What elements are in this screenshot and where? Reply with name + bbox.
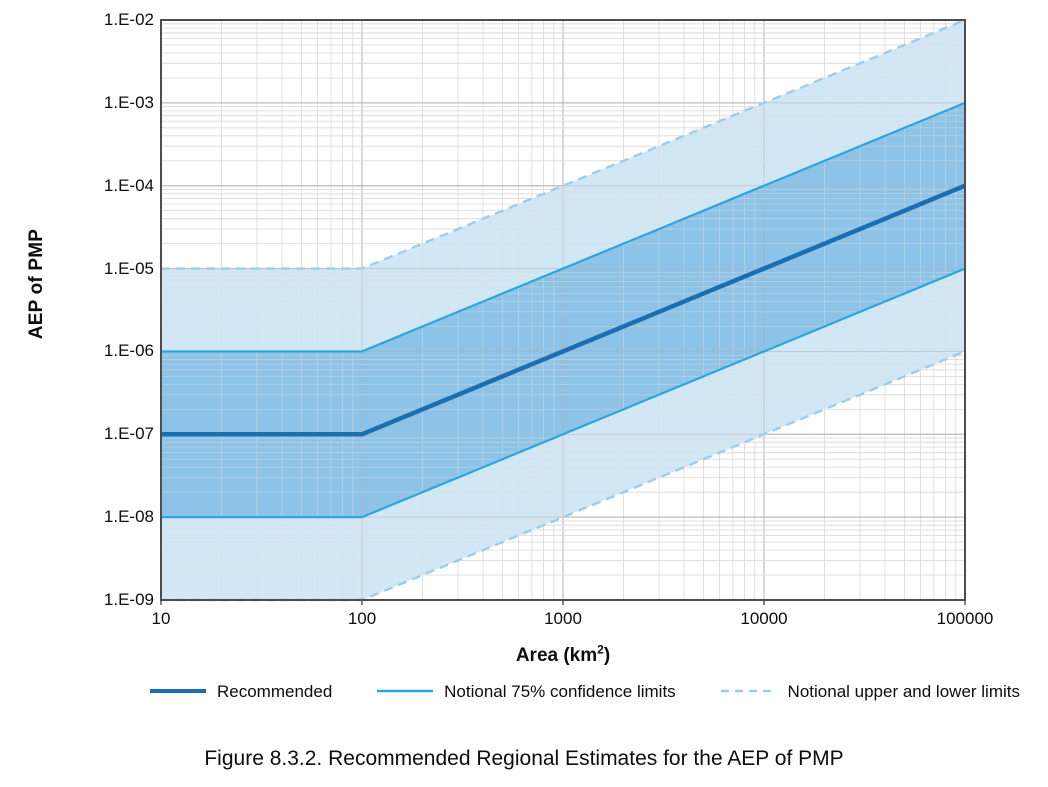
- legend-item-recommended[interactable]: Recommended: [150, 682, 332, 701]
- x-tick-label: 1000: [544, 609, 582, 628]
- x-axis-title-superscript: 2: [597, 643, 604, 657]
- chart-legend: Recommended Notional 75% confidence limi…: [150, 678, 1020, 704]
- line-sample-solid-thick-icon: [150, 685, 206, 697]
- line-sample-dashed-icon: [721, 685, 777, 697]
- figure-container: AEP of PMP 1.E-02 1.E-03 1.E-04 1.E-05 1…: [0, 0, 1048, 787]
- x-tick-label: 10000: [740, 609, 787, 628]
- figure-caption: Figure 8.3.2. Recommended Regional Estim…: [0, 746, 1048, 772]
- x-axis-tick-labels: 10 100 1000 10000 100000: [0, 609, 1048, 635]
- x-axis-title: Area (km2): [161, 645, 965, 667]
- plot-area: [0, 0, 1048, 640]
- legend-label: Recommended: [217, 682, 332, 701]
- line-sample-solid-thin-icon: [377, 685, 433, 697]
- x-tick-label: 10: [152, 609, 171, 628]
- legend-item-confidence-limits[interactable]: Notional 75% confidence limits: [377, 682, 676, 701]
- x-axis-title-close: ): [604, 645, 610, 666]
- legend-item-notional-limits[interactable]: Notional upper and lower limits: [721, 682, 1020, 701]
- legend-label: Notional upper and lower limits: [788, 682, 1020, 701]
- x-tick-label: 100000: [937, 609, 994, 628]
- x-axis-title-text: Area (km: [516, 645, 597, 666]
- x-tick-label: 100: [348, 609, 376, 628]
- legend-label: Notional 75% confidence limits: [444, 682, 676, 701]
